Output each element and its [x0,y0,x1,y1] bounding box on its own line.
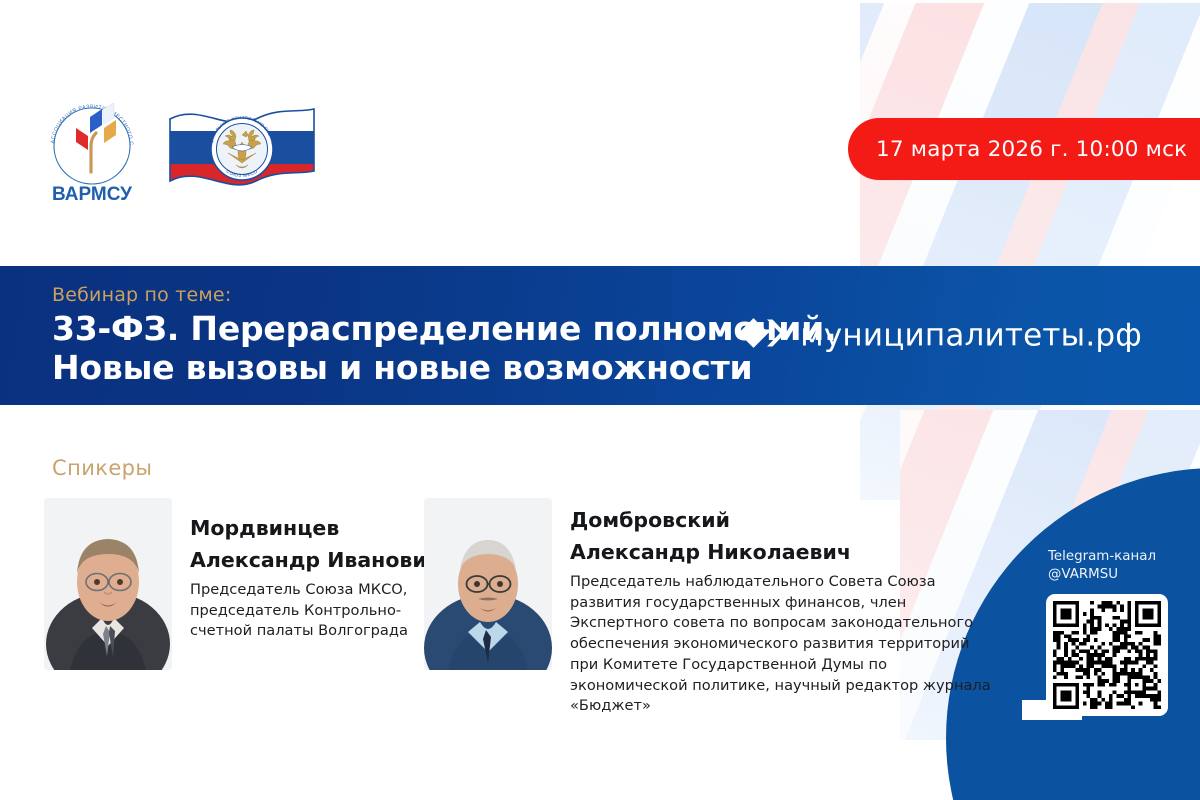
speaker-name-line-2: Александр Иванович [190,548,445,573]
speaker-name-line-1: Мордвинцев [190,516,445,541]
banner-title-line-2: Новые вызовы и новые возможности [52,349,836,388]
date-badge: 17 марта 2026 г. 10:00 мск [848,118,1200,180]
speaker-role-2: Председатель наблюдательного Совета Союз… [570,572,1000,717]
site-logo-text: муниципалитеты.рф [800,318,1142,354]
telegram-qr-code[interactable] [1046,594,1168,716]
telegram-label-line-1: Telegram-канал [1048,549,1156,564]
speaker-card-1: Мордвинцев Александр Иванович Председате… [44,498,445,670]
speaker-name-line-2: Александр Николаевич [570,540,1000,565]
varmsu-logo: ВСЕРОССИЙСКАЯ АССОЦИАЦИЯ РАЗВИТИЯ МЕСТНО… [40,88,144,206]
speaker-text-1: Мордвинцев Александр Иванович Председате… [190,498,445,642]
speaker-photo-mordvintsev [44,498,172,670]
speaker-text-2: Домбровский Александр Николаевич Председ… [570,498,1000,717]
telegram-label-line-2: @VARMSU [1048,567,1118,582]
telegram-label: Telegram-канал @VARMSU [1048,548,1196,584]
title-banner: Вебинар по теме: 33-ФЗ. Перераспределени… [0,266,1200,405]
banner-title-line-1: 33-ФЗ. Перераспределение полномочий. [52,310,836,349]
speaker-photo-dombrovskiy [424,498,552,670]
speakers-label: Спикеры [52,456,152,480]
telegram-block[interactable]: Telegram-канал @VARMSU [1046,548,1196,716]
poster-canvas: ВСЕРОССИЙСКАЯ АССОЦИАЦИЯ РАЗВИТИЯ МЕСТНО… [0,0,1200,800]
banner-kicker: Вебинар по теме: [52,284,836,306]
diamond-chevron-icon [740,316,786,355]
date-badge-text: 17 марта 2026 г. 10:00 мск [876,137,1187,162]
site-logo[interactable]: муниципалитеты.рф [740,316,1142,355]
soyuz-mkso-logo: СОЮЗ МУНИЦИПАЛЬНЫХ КОНТРОЛЬНО-СЧЁТНЫХ ОР… [166,95,318,199]
speaker-role-1: Председатель Союза МКСО, председатель Ко… [190,580,445,642]
varmsu-abbr-text: ВАРМСУ [52,184,132,205]
banner-text-block: Вебинар по теме: 33-ФЗ. Перераспределени… [52,284,836,388]
top-edge-strip [0,0,1200,3]
speaker-card-2: Домбровский Александр Николаевич Председ… [424,498,1000,717]
header-logos: ВСЕРОССИЙСКАЯ АССОЦИАЦИЯ РАЗВИТИЯ МЕСТНО… [40,88,318,206]
speaker-name-line-1: Домбровский [570,508,1000,533]
